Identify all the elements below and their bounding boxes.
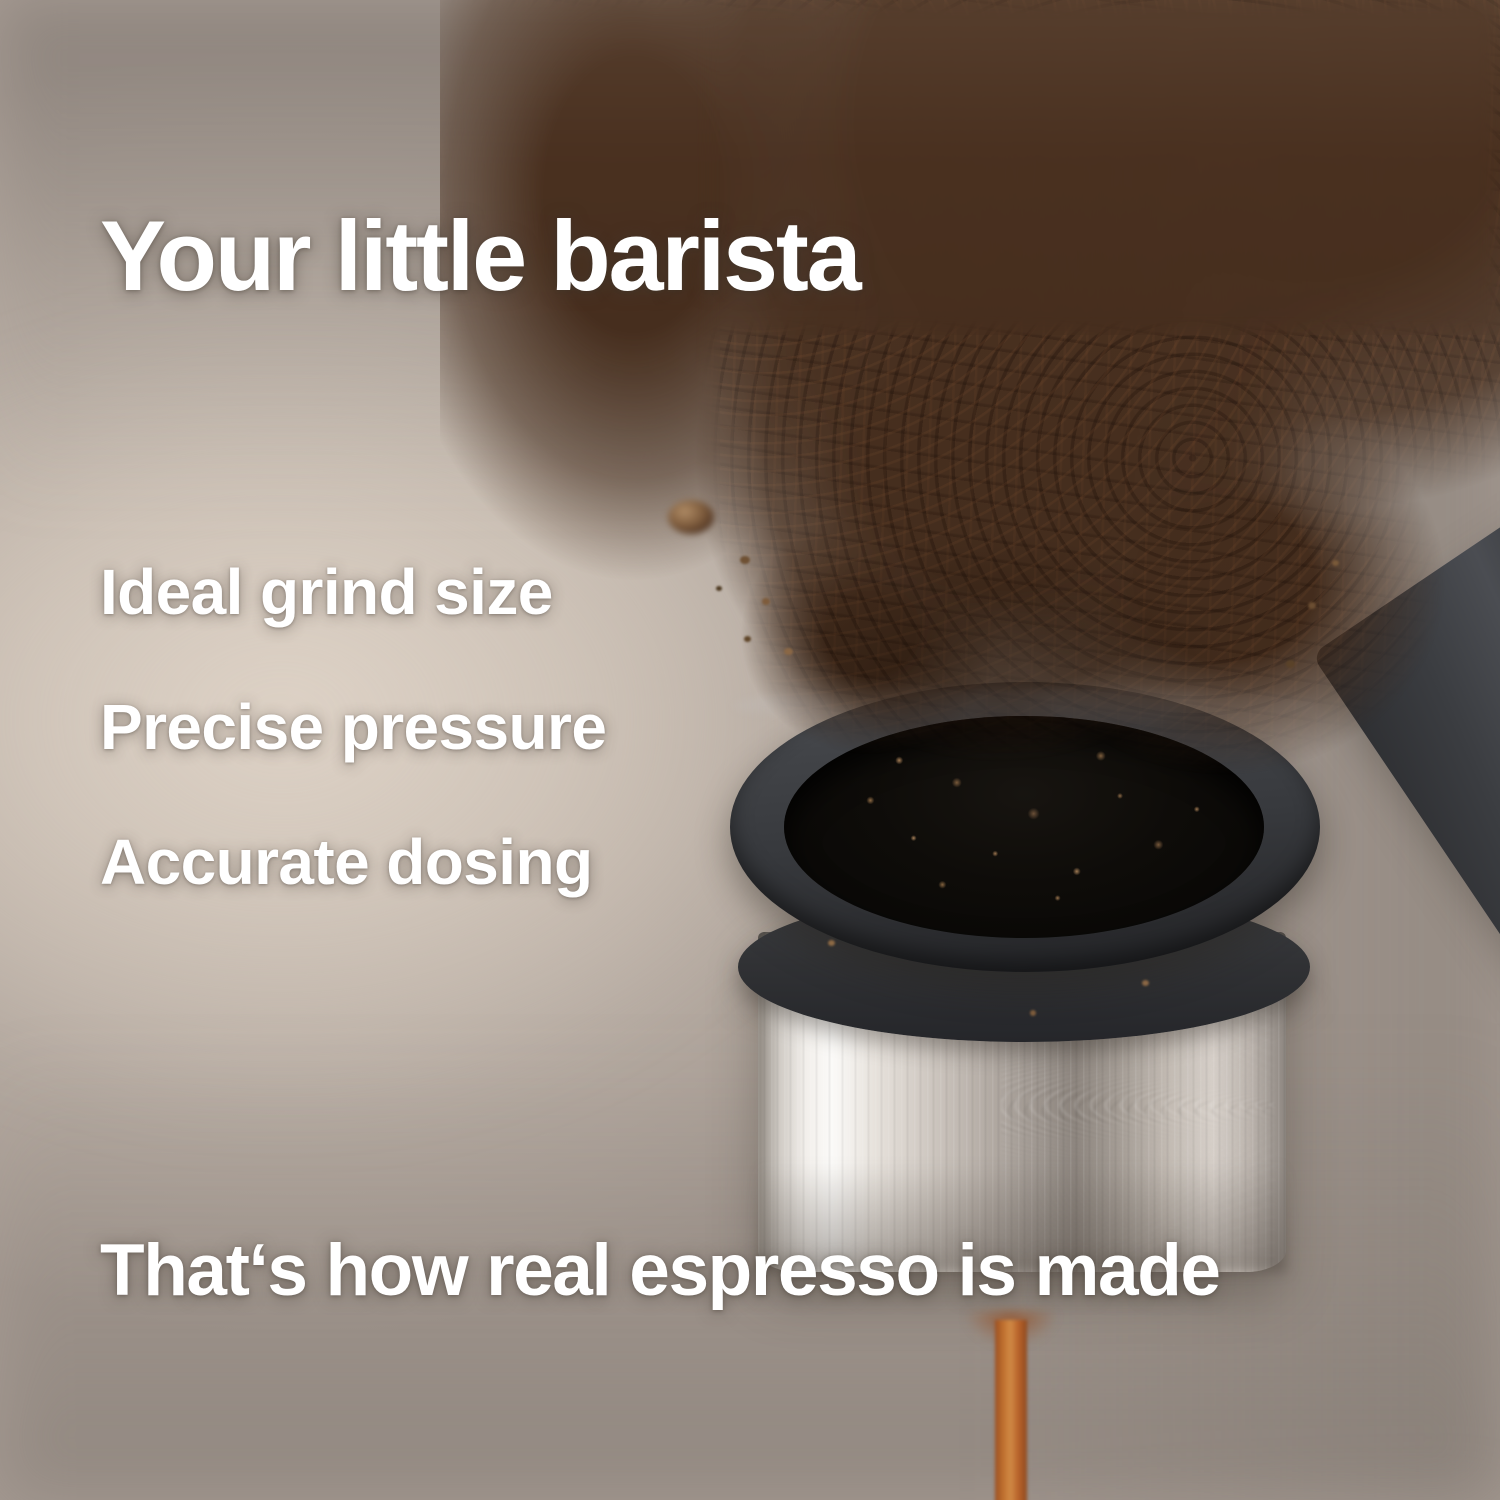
page-title: Your little barista	[100, 206, 860, 305]
flying-bean	[668, 500, 714, 534]
grounds-fleck	[1030, 1010, 1036, 1016]
tagline: That‘s how real espresso is made	[100, 1234, 1220, 1307]
grounds-fleck	[716, 586, 722, 591]
grounds-fleck	[828, 940, 835, 946]
grounds-fleck	[1286, 660, 1295, 668]
feature-item-pressure: Precise pressure	[100, 695, 606, 759]
feature-item-dosing: Accurate dosing	[100, 830, 606, 894]
espresso-stream	[995, 1320, 1027, 1500]
grounds-fleck	[1308, 602, 1316, 609]
grounds-fleck	[1332, 560, 1339, 566]
grounds-fleck	[1142, 980, 1149, 986]
grounds-fleck	[740, 556, 750, 564]
grounds-fleck	[744, 636, 751, 642]
feature-list: Ideal grind size Precise pressure Accura…	[100, 560, 606, 894]
grounds-fleck	[784, 648, 793, 655]
grounds-fleck	[762, 598, 770, 605]
marketing-banner: Your little barista Ideal grind size Pre…	[0, 0, 1500, 1500]
feature-item-grind-size: Ideal grind size	[100, 560, 606, 624]
